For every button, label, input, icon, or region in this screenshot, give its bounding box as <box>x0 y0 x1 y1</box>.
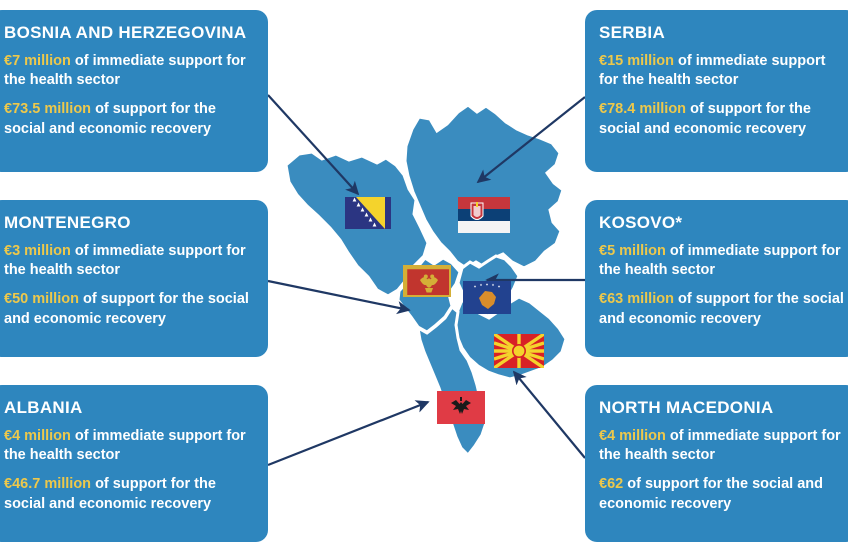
panel-line-health-serbia: €15 million of immediate support for the… <box>599 52 844 91</box>
amount-health-kosovo: €5 million <box>599 243 666 259</box>
panel-line-recovery-kosovo: €63 million of support for the social an… <box>599 290 844 329</box>
amount-health-montenegro: €3 million <box>4 243 71 259</box>
connector-albania <box>268 402 428 465</box>
connector-north-macedonia <box>514 372 585 458</box>
panel-title-montenegro: MONTENEGRO <box>4 214 254 233</box>
flag-kosovo-icon <box>463 281 511 314</box>
panel-title-bosnia: BOSNIA AND HERZEGOVINA <box>4 24 254 43</box>
panel-north-macedonia[interactable]: NORTH MACEDONIA €4 million of immediate … <box>585 385 848 542</box>
panel-line-recovery-serbia: €78.4 million of support for the social … <box>599 100 844 139</box>
panel-line-recovery-montenegro: €50 million of support for the social an… <box>4 290 254 329</box>
panel-kosovo[interactable]: KOSOVO* €5 million of immediate support … <box>585 200 848 357</box>
panel-line-health-montenegro: €3 million of immediate support for the … <box>4 242 254 281</box>
panel-line-recovery-albania: €46.7 million of support for the social … <box>4 475 254 514</box>
amount-health-albania: €4 million <box>4 428 71 444</box>
amount-recovery-kosovo: €63 million <box>599 291 674 307</box>
amount-health-north-macedonia: €4 million <box>599 428 666 444</box>
panel-line-recovery-north-macedonia: €62 of support for the social and econom… <box>599 475 844 514</box>
flag-montenegro-icon <box>403 265 451 297</box>
panel-line-recovery-bosnia: €73.5 million of support for the social … <box>4 100 254 139</box>
amount-recovery-bosnia: €73.5 million <box>4 101 91 117</box>
amount-health-serbia: €15 million <box>599 53 674 69</box>
panel-line-health-kosovo: €5 million of immediate support for the … <box>599 242 844 281</box>
panel-line-health-north-macedonia: €4 million of immediate support for the … <box>599 427 844 466</box>
panel-serbia[interactable]: SERBIA €15 million of immediate support … <box>585 10 848 172</box>
panel-line-health-albania: €4 million of immediate support for the … <box>4 427 254 466</box>
amount-recovery-albania: €46.7 million <box>4 476 91 492</box>
panel-line-health-bosnia: €7 million of immediate support for the … <box>4 52 254 91</box>
amount-recovery-north-macedonia-text: of support for the social and economic r… <box>599 476 823 511</box>
amount-recovery-montenegro: €50 million <box>4 291 79 307</box>
amount-recovery-serbia: €78.4 million <box>599 101 686 117</box>
panel-title-serbia: SERBIA <box>599 24 844 43</box>
panel-montenegro[interactable]: MONTENEGRO €3 million of immediate suppo… <box>0 200 268 357</box>
flag-bosnia-icon <box>345 197 391 229</box>
panel-title-albania: ALBANIA <box>4 399 254 418</box>
panel-albania[interactable]: ALBANIA €4 million of immediate support … <box>0 385 268 542</box>
panel-title-kosovo: KOSOVO* <box>599 214 844 233</box>
flag-north-macedonia-icon <box>494 334 544 368</box>
flag-albania-icon <box>437 391 485 424</box>
amount-recovery-north-macedonia: €62 <box>599 476 623 492</box>
panel-title-north-macedonia: NORTH MACEDONIA <box>599 399 844 418</box>
amount-health-bosnia: €7 million <box>4 53 71 69</box>
infographic-canvas: BOSNIA AND HERZEGOVINA €7 million of imm… <box>0 0 848 556</box>
flag-serbia-icon <box>458 197 510 233</box>
panel-bosnia[interactable]: BOSNIA AND HERZEGOVINA €7 million of imm… <box>0 10 268 172</box>
